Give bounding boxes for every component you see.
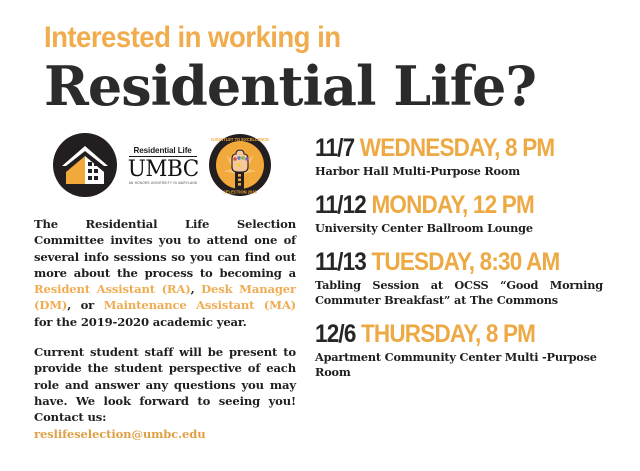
event-location: Tabling Session at OCSS “Good Morning Co… xyxy=(315,278,603,308)
umbc-lockup: Residential Life UMBC AN HONORS UNIVERSI… xyxy=(126,145,200,186)
umbc-department-label: Residential Life xyxy=(134,145,192,155)
event-list: 11/7 WEDNESDAY, 8 PM Harbor Hall Multi-P… xyxy=(315,134,627,380)
event-day-time: TUESDAY, 8:30 AM xyxy=(371,248,559,276)
headline-title: Residential Life? xyxy=(44,57,624,115)
event-heading: 11/12 MONDAY, 12 PM xyxy=(315,191,596,219)
flyer-canvas: Interested in working in Residential Lif… xyxy=(0,0,640,471)
logo-row: Residential Life UMBC AN HONORS UNIVERSI… xyxy=(34,130,296,200)
umbc-tagline: AN HONORS UNIVERSITY IN MARYLAND xyxy=(129,181,198,186)
svg-text:GAUNTLET TO EXCELLENCE: GAUNTLET TO EXCELLENCE xyxy=(211,137,269,142)
event-date: 11/12 xyxy=(315,191,366,219)
event-date: 11/7 xyxy=(315,134,354,162)
event-location: Harbor Hall Multi-Purpose Room xyxy=(315,164,627,179)
event-heading: 11/13 TUESDAY, 8:30 AM xyxy=(315,248,596,276)
intro-text-part2: for the 2019-2020 academic year. xyxy=(34,315,247,329)
contact-email[interactable]: reslifeselection@umbc.edu xyxy=(34,426,296,442)
infinity-gauntlet-seal-icon: GAUNTLET TO EXCELLENCE SELECTION 2019 xyxy=(208,133,272,197)
intro-paragraph: The Residential Life Selection Committee… xyxy=(34,216,296,330)
role-resident-assistant: Resident Assistant (RA) xyxy=(34,282,191,296)
svg-text:SELECTION 2019: SELECTION 2019 xyxy=(223,190,257,195)
event-heading: 11/7 WEDNESDAY, 8 PM xyxy=(315,134,596,162)
role-maintenance-assistant: Maintenance Assistant (MA) xyxy=(104,298,296,312)
event-location: University Center Ballroom Lounge xyxy=(315,221,627,236)
event-location: Apartment Community Center Multi -Purpos… xyxy=(315,350,627,380)
residential-life-house-icon xyxy=(52,132,118,198)
event-heading: 12/6 THURSDAY, 8 PM xyxy=(315,320,596,348)
event-item: 11/7 WEDNESDAY, 8 PM Harbor Hall Multi-P… xyxy=(315,134,627,179)
left-column: Residential Life UMBC AN HONORS UNIVERSI… xyxy=(34,130,296,442)
event-day-time: THURSDAY, 8 PM xyxy=(361,320,535,348)
intro-text-part1: The Residential Life Selection Committee… xyxy=(34,217,296,280)
role-separator-1: , xyxy=(191,282,202,296)
event-day-time: WEDNESDAY, 8 PM xyxy=(360,134,555,162)
staff-paragraph: Current student staff will be present to… xyxy=(34,344,296,425)
event-item: 12/6 THURSDAY, 8 PM Apartment Community … xyxy=(315,320,627,380)
headline-kicker: Interested in working in xyxy=(44,22,578,54)
event-item: 11/12 MONDAY, 12 PM University Center Ba… xyxy=(315,191,627,236)
event-date: 11/13 xyxy=(315,248,366,276)
event-item: 11/13 TUESDAY, 8:30 AM Tabling Session a… xyxy=(315,248,627,308)
event-date: 12/6 xyxy=(315,320,356,348)
headline-block: Interested in working in Residential Lif… xyxy=(44,22,624,115)
event-day-time: MONDAY, 12 PM xyxy=(371,191,533,219)
role-separator-2: , or xyxy=(67,298,103,312)
umbc-wordmark: UMBC xyxy=(127,158,198,181)
